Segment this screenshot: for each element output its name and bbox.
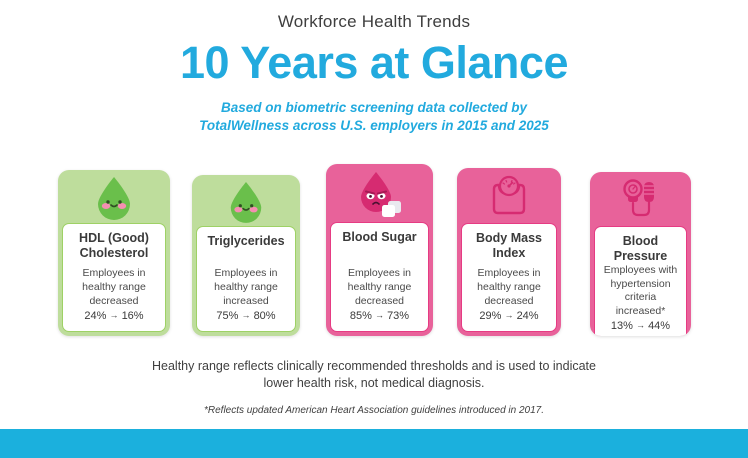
card-panel: Blood Pressure Employees with hypertensi… xyxy=(594,226,687,336)
card-stat: 24% → 16% xyxy=(84,309,143,323)
bathroom-scale-icon xyxy=(486,174,532,218)
disclaimer-line-2: lower health risk, not medical diagnosis… xyxy=(0,375,748,392)
card-stat: 29% → 24% xyxy=(479,309,538,323)
card-desc-line-2: healthy range xyxy=(477,281,541,295)
green-droplet-happy-icon xyxy=(226,179,266,223)
card-stat-from: 29% xyxy=(479,310,501,322)
card-desc-line-1: Employees in xyxy=(477,267,541,281)
card-desc-line-1: Employees with xyxy=(600,264,681,278)
arrow-right-icon: → xyxy=(110,310,119,320)
card-icon-zone xyxy=(457,168,561,223)
card-title: Blood Sugar xyxy=(342,230,416,245)
card-stat-from: 85% xyxy=(350,310,372,322)
blood-pressure-monitor-icon xyxy=(618,176,664,222)
card-desc-line-2: healthy range xyxy=(348,281,412,295)
card-icon-zone xyxy=(590,172,691,226)
subtitle-line-2: TotalWellness across U.S. employers in 2… xyxy=(0,117,748,135)
card-description: Employees in healthy range decreased xyxy=(477,267,541,309)
metric-card-hdl-cholesterol[interactable]: HDL (Good) Cholesterol Employees in heal… xyxy=(58,170,170,336)
card-panel: Blood Sugar Employees in healthy range d… xyxy=(330,222,429,332)
card-stat-to: 16% xyxy=(122,310,144,322)
card-desc-line-3: increased xyxy=(214,295,278,309)
card-desc-line-1: Employees in xyxy=(214,267,278,281)
metric-card-body-mass-index[interactable]: Body Mass Index Employees in healthy ran… xyxy=(457,168,561,336)
eyebrow-text: Workforce Health Trends xyxy=(0,12,748,32)
metric-card-blood-sugar[interactable]: Blood Sugar Employees in healthy range d… xyxy=(326,164,433,336)
card-description: Employees in healthy range increased xyxy=(214,267,278,309)
arrow-right-icon: → xyxy=(505,310,514,320)
card-icon-zone xyxy=(58,170,170,223)
card-title: Body Mass Index xyxy=(467,231,551,261)
card-stat-to: 73% xyxy=(387,310,409,322)
card-title: Triglycerides xyxy=(207,234,284,249)
card-stat: 85% → 73% xyxy=(350,309,409,323)
infographic-footer: Healthy range reflects clinically recomm… xyxy=(0,358,748,416)
card-stat-to: 80% xyxy=(254,310,276,322)
disclaimer-text: Healthy range reflects clinically recomm… xyxy=(0,358,748,391)
subtitle-line-1: Based on biometric screening data collec… xyxy=(0,99,748,117)
arrow-right-icon: → xyxy=(375,310,384,320)
card-desc-line-2: healthy range xyxy=(214,281,278,295)
metric-card-blood-pressure[interactable]: Blood Pressure Employees with hypertensi… xyxy=(590,172,691,336)
card-icon-zone xyxy=(192,175,300,226)
card-icon-zone xyxy=(326,164,433,222)
card-panel: Body Mass Index Employees in healthy ran… xyxy=(461,223,557,332)
card-stat: 75% → 80% xyxy=(216,309,275,323)
card-description: Employees in healthy range decreased xyxy=(82,267,146,309)
card-desc-line-3: decreased xyxy=(477,295,541,309)
disclaimer-line-1: Healthy range reflects clinically recomm… xyxy=(0,358,748,375)
card-desc-line-2: hypertension xyxy=(600,278,681,292)
page-title: 10 Years at Glance xyxy=(0,38,748,88)
card-description: Employees in healthy range decreased xyxy=(348,267,412,309)
card-desc-line-1: Employees in xyxy=(348,267,412,281)
arrow-right-icon: → xyxy=(242,310,251,320)
card-stat-to: 44% xyxy=(648,320,670,332)
card-desc-line-3: decreased xyxy=(82,295,146,309)
bottom-accent-bar xyxy=(0,429,748,458)
card-stat-to: 24% xyxy=(517,310,539,322)
arrow-right-icon: → xyxy=(636,320,645,330)
metric-card-row: HDL (Good) Cholesterol Employees in heal… xyxy=(0,151,748,336)
card-stat: 13% → 44% xyxy=(611,319,670,333)
card-description: Employees with hypertension criteria inc… xyxy=(600,264,681,319)
card-stat-from: 24% xyxy=(84,310,106,322)
card-desc-line-3: criteria increased* xyxy=(600,291,681,319)
card-stat-from: 75% xyxy=(216,310,238,322)
card-title: Blood Pressure xyxy=(600,234,681,264)
pink-droplet-angry-sugar-cubes-icon xyxy=(352,168,408,218)
card-desc-line-3: decreased xyxy=(348,295,412,309)
card-title: HDL (Good) Cholesterol xyxy=(68,231,160,261)
infographic-header: Workforce Health Trends 10 Years at Glan… xyxy=(0,0,748,135)
footnote-text: *Reflects updated American Heart Associa… xyxy=(0,405,748,416)
card-panel: HDL (Good) Cholesterol Employees in heal… xyxy=(62,223,166,332)
card-panel: Triglycerides Employees in healthy range… xyxy=(196,226,296,332)
card-desc-line-2: healthy range xyxy=(82,281,146,295)
card-desc-line-1: Employees in xyxy=(82,267,146,281)
green-droplet-happy-icon xyxy=(93,174,135,220)
card-stat-from: 13% xyxy=(611,320,633,332)
subtitle: Based on biometric screening data collec… xyxy=(0,99,748,135)
metric-card-triglycerides[interactable]: Triglycerides Employees in healthy range… xyxy=(192,175,300,336)
